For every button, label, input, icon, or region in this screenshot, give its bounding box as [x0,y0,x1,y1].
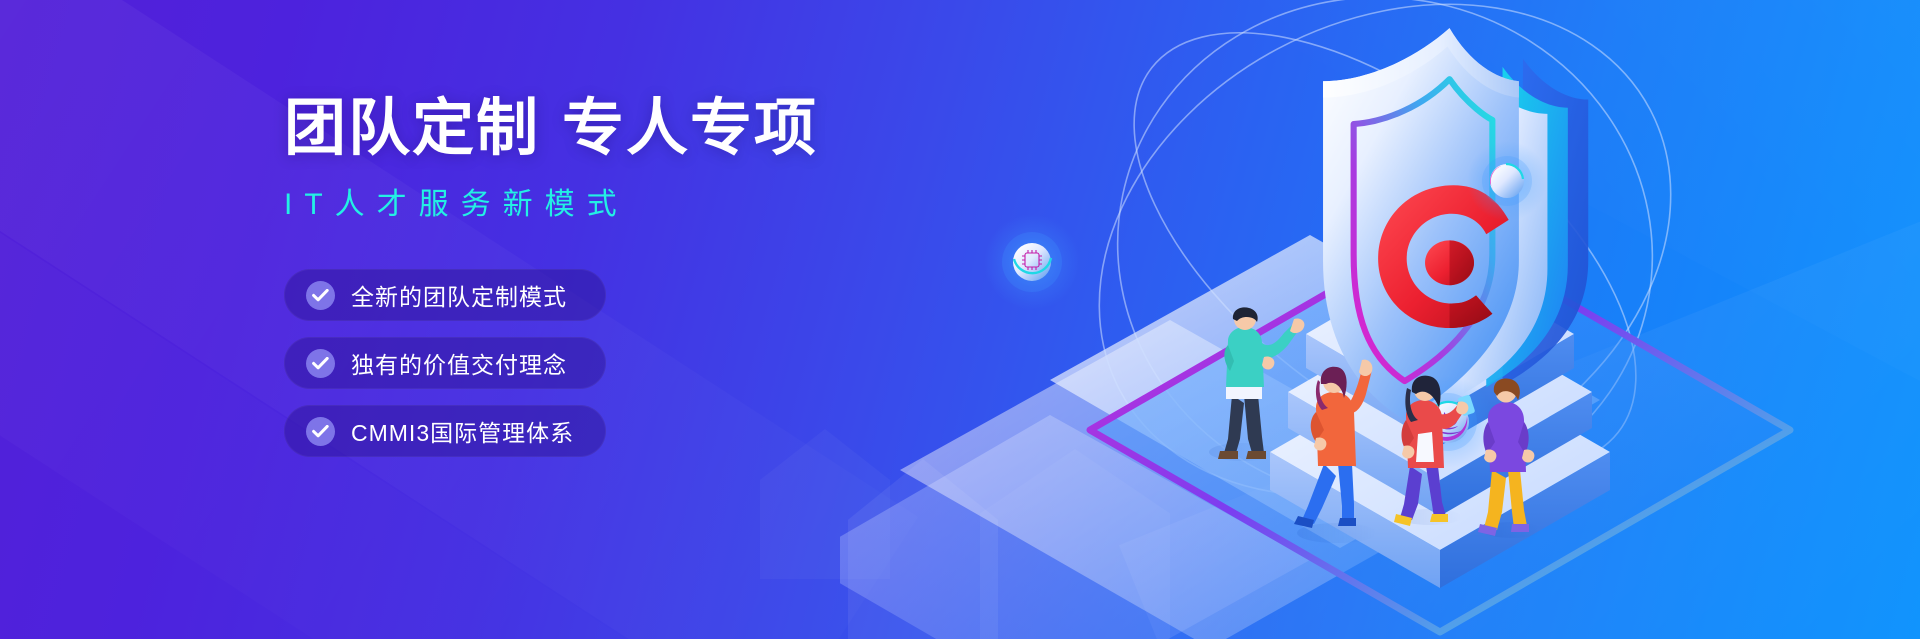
feature-pill-label: 独有的价值交付理念 [351,346,567,380]
hero-illustration [840,0,1920,639]
feature-pill-2[interactable]: 独有的价值交付理念 [284,337,606,389]
check-icon [306,349,335,378]
page-title: 团队定制专人专项 [284,96,924,161]
headline-part-2: 专人专项 [562,94,818,163]
hero-banner: 团队定制专人专项 IT人才服务新模式 全新的团队定制模式 独有的价值交付理念 [0,0,1920,639]
feature-list: 全新的团队定制模式 独有的价值交付理念 CMMI3国际管理体系 [284,269,924,457]
banner-copy: 团队定制专人专项 IT人才服务新模式 全新的团队定制模式 独有的价值交付理念 [284,96,924,457]
page-subtitle: IT人才服务新模式 [284,179,924,223]
check-icon [306,417,335,446]
check-icon [306,281,335,310]
feature-pill-3[interactable]: CMMI3国际管理体系 [284,405,606,457]
feature-pill-label: CMMI3国际管理体系 [351,414,574,448]
node-plain-sphere [1467,141,1547,221]
headline-part-1: 团队定制 [284,94,540,163]
feature-pill-1[interactable]: 全新的团队定制模式 [284,269,606,321]
feature-pill-label: 全新的团队定制模式 [351,278,567,312]
node-chip-sphere [984,214,1080,310]
